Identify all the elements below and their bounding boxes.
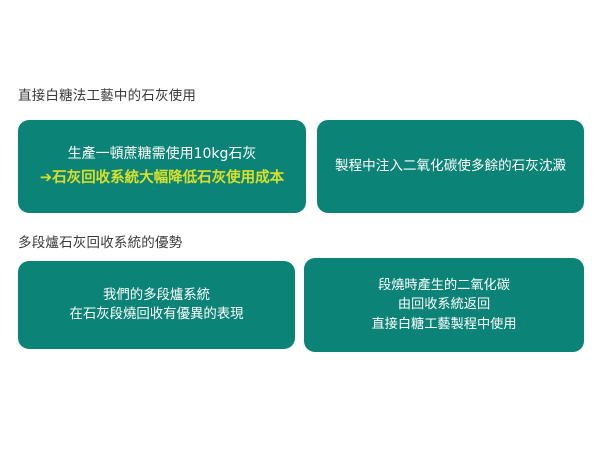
card-line-text: 製程中注入二氧化碳使多餘的石灰沈澱 bbox=[335, 157, 566, 177]
card-line-accent-text: 石灰回收系統大幅降低石灰使用成本 bbox=[52, 170, 284, 186]
card-line-text: 直接白糖工藝製程中使用 bbox=[371, 315, 516, 334]
card-line-text: 我們的多段爐系統 bbox=[103, 286, 210, 305]
card-line-text: 段燒時產生的二氧化碳 bbox=[378, 276, 510, 295]
card-co2-recycle-loop: 段燒時產生的二氧化碳 由回收系統返回 直接白糖工藝製程中使用 bbox=[304, 258, 584, 352]
card-line-highlight: ➔石灰回收系統大幅降低石灰使用成本 bbox=[40, 165, 284, 189]
section-heading-lime-usage: 直接白糖法工藝中的石灰使用 bbox=[18, 88, 196, 104]
card-msf-performance: 我們的多段爐系統 在石灰段燒回收有優異的表現 bbox=[18, 261, 295, 349]
card-co2-injection: 製程中注入二氧化碳使多餘的石灰沈澱 bbox=[317, 120, 584, 213]
card-line-text: 生產一頓蔗糖需使用10kg石灰 bbox=[68, 144, 257, 164]
card-lime-consumption: 生產一頓蔗糖需使用10kg石灰 ➔石灰回收系統大幅降低石灰使用成本 bbox=[18, 120, 306, 213]
arrow-right-icon: ➔ bbox=[40, 171, 52, 186]
card-line-text: 由回收系統返回 bbox=[398, 295, 490, 314]
section-heading-msf-advantages: 多段爐石灰回收系統的優勢 bbox=[18, 235, 182, 251]
slide-canvas: 直接白糖法工藝中的石灰使用 生產一頓蔗糖需使用10kg石灰 ➔石灰回收系統大幅降… bbox=[0, 0, 600, 450]
card-line-text: 在石灰段燒回收有優異的表現 bbox=[69, 305, 243, 324]
